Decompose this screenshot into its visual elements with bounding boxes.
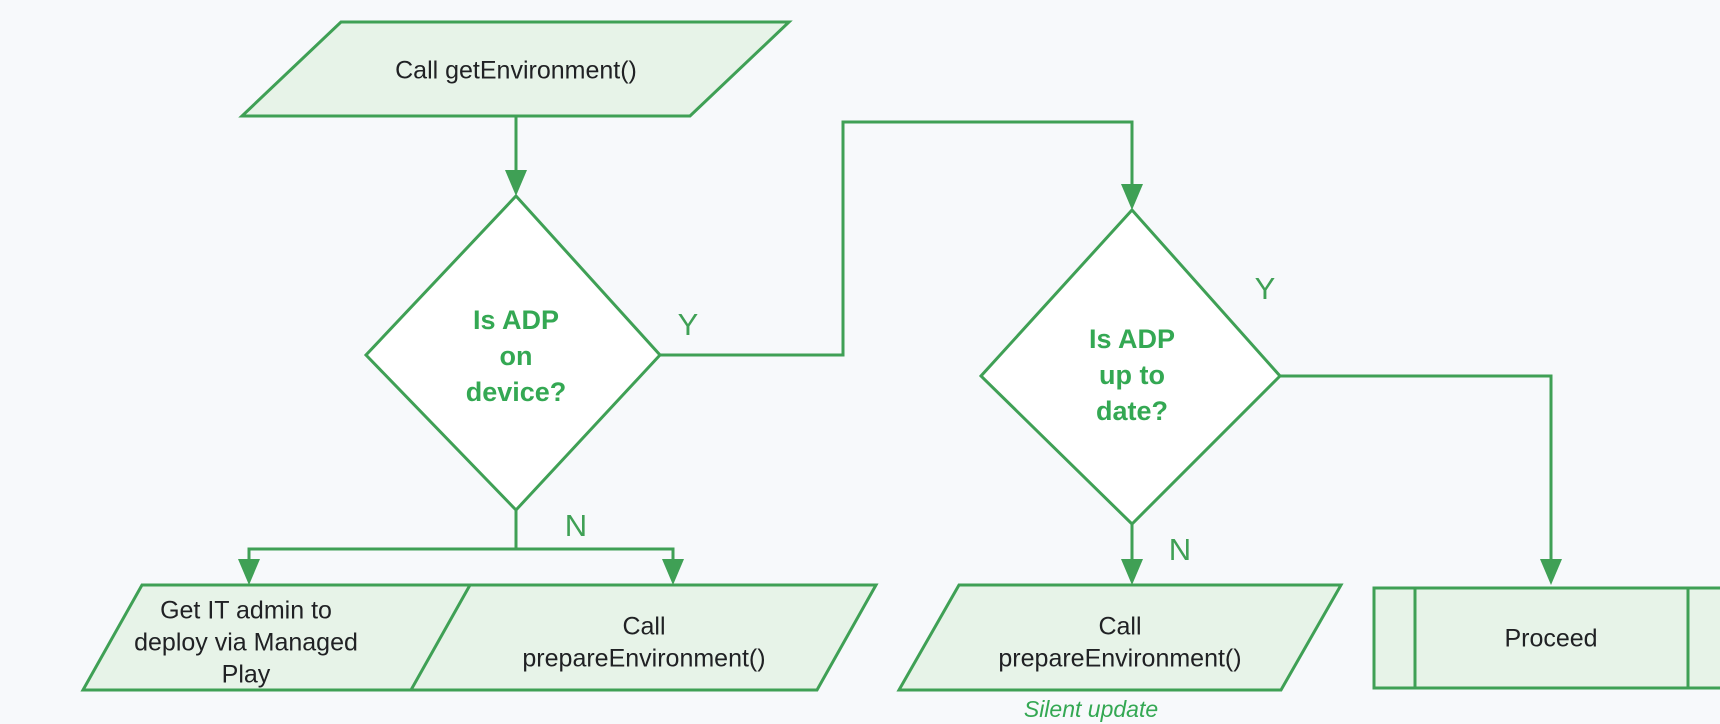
node-proceed[interactable]: Proceed [1374,588,1720,688]
node-decision-is-adp-up-to-date[interactable]: Is ADP up to date? [981,210,1280,524]
node-call-get-environment[interactable]: Call getEnvironment() [242,22,789,116]
arrow-head-icon [1121,559,1143,585]
connector-device-no-bus [238,510,684,585]
connector-uptodate-no-to-prepare [1121,524,1143,585]
arrow-head-icon [1121,184,1143,210]
decision-label-line3: device? [466,377,567,407]
arrow-head-icon [505,170,527,196]
node-label-line3: Play [222,661,271,689]
node-label: Call getEnvironment() [395,57,637,85]
flowchart-canvas: Call getEnvironment() Is ADP on device? … [0,0,1720,724]
node-label-line2: deploy via Managed [134,629,358,657]
node-label-line1: Call [622,613,665,641]
node-label: Proceed [1504,625,1597,653]
node-get-it-admin-managed-play[interactable]: Get IT admin to deploy via Managed Play [83,585,474,690]
arrow-head-icon [238,559,260,585]
connector-uptodate-yes-to-proceed [1280,376,1562,585]
node-call-prepare-environment-right[interactable]: Call prepareEnvironment() [899,585,1341,690]
annotation-silent-update: Silent update [1024,696,1158,722]
node-decision-is-adp-on-device[interactable]: Is ADP on device? [366,196,660,510]
branch-label-uptodate-yes: Y [1255,271,1276,306]
flowchart-svg: Call getEnvironment() Is ADP on device? … [0,0,1720,724]
decision-label-line3: date? [1096,396,1168,426]
connector-start-to-device-decision [505,116,527,196]
node-call-prepare-environment-left[interactable]: Call prepareEnvironment() [411,585,876,690]
decision-label-line2: up to [1099,360,1165,390]
node-label-line1: Call [1098,613,1141,641]
decision-label-line2: on [500,341,533,371]
node-label-line2: prepareEnvironment() [522,645,765,673]
decision-label-line1: Is ADP [1089,324,1175,354]
arrow-head-icon [1540,559,1562,585]
branch-label-device-no: N [565,508,587,543]
branch-label-device-yes: Y [678,307,699,342]
branch-label-uptodate-no: N [1169,532,1191,567]
arrow-head-icon [662,559,684,585]
node-label-line2: prepareEnvironment() [998,645,1241,673]
decision-label-line1: Is ADP [473,305,559,335]
node-label-line1: Get IT admin to [160,597,332,625]
